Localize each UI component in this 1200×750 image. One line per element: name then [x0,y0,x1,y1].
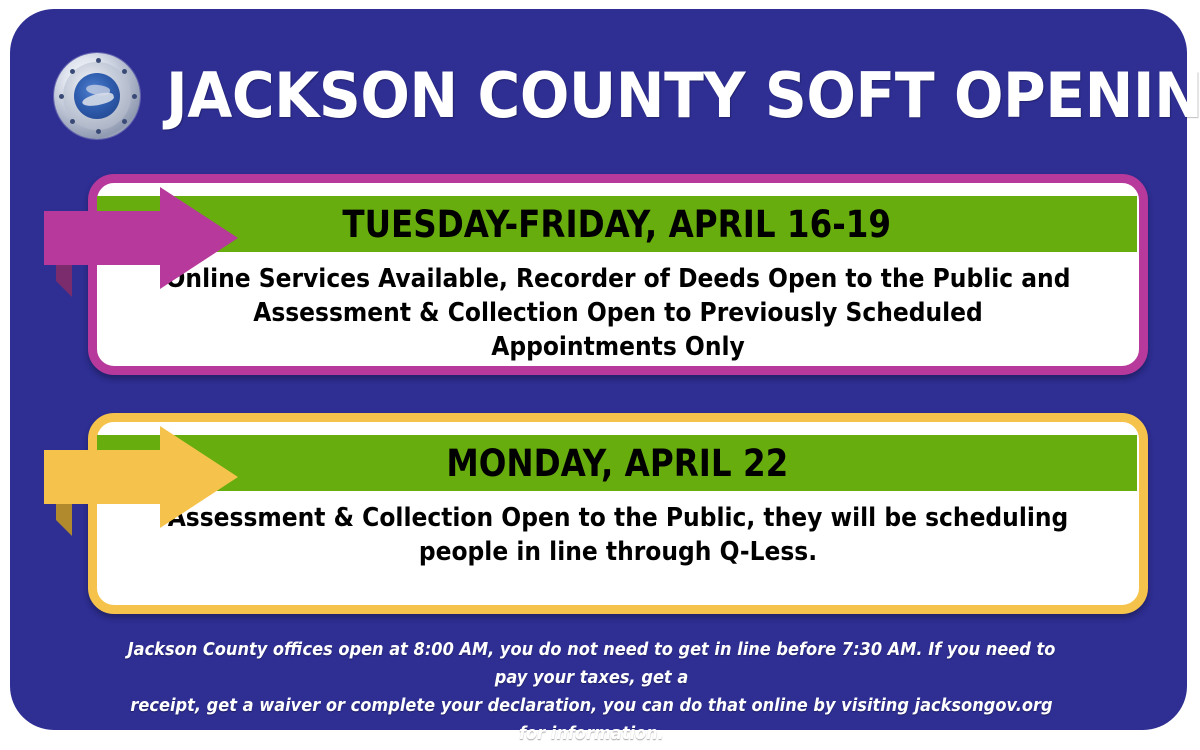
card-body-line-1: Assessment & Collection Open to the Publ… [162,502,1075,536]
footer-line-1: Jackson County offices open at 8:00 AM, … [126,636,1058,692]
card-header-bar: TUESDAY-FRIDAY, APRIL 16-19 [97,196,1137,252]
page-title: JACKSON COUNTY SOFT OPENING [166,65,1200,127]
poster-header: JACKSON COUNTY SOFT OPENING [0,46,1177,146]
seal-stud [70,119,75,124]
seal-stud [122,69,127,74]
seal-stud [70,69,75,74]
footer-note: Jackson County offices open at 8:00 AM, … [126,636,1058,748]
seal-stud [96,58,101,63]
seal-stud [59,94,64,99]
poster-root: JACKSON COUNTY SOFT OPENING TUESDAY-FRID… [0,0,1200,750]
card-header-bar: MONDAY, APRIL 22 [97,435,1137,491]
footer-line-2: receipt, get a waiver or complete your d… [126,692,1058,748]
card-header-label: TUESDAY-FRIDAY, APRIL 16-19 [343,206,892,243]
card-body-line-1: Online Services Available, Recorder of D… [162,263,1075,297]
card-body-text: Assessment & Collection Open to the Publ… [162,502,1075,570]
seal-stud [96,129,101,134]
card-header-label: MONDAY, APRIL 22 [446,445,788,482]
seal-stud [132,94,137,99]
seal-stud [122,119,127,124]
card-body-text: Online Services Available, Recorder of D… [162,263,1075,364]
jackson-county-seal-icon [54,53,140,139]
seal-center-emblem [74,73,120,119]
card-body-line-2: Assessment & Collection Open to Previous… [162,297,1075,365]
card-monday: MONDAY, APRIL 22 Assessment & Collection… [88,413,1148,614]
card-tuesday-friday: TUESDAY-FRIDAY, APRIL 16-19 Online Servi… [88,174,1148,375]
right-arrow-icon-gold [42,424,247,542]
card-body-line-2: people in line through Q-Less. [162,536,1075,570]
right-arrow-icon-magenta [42,185,247,303]
